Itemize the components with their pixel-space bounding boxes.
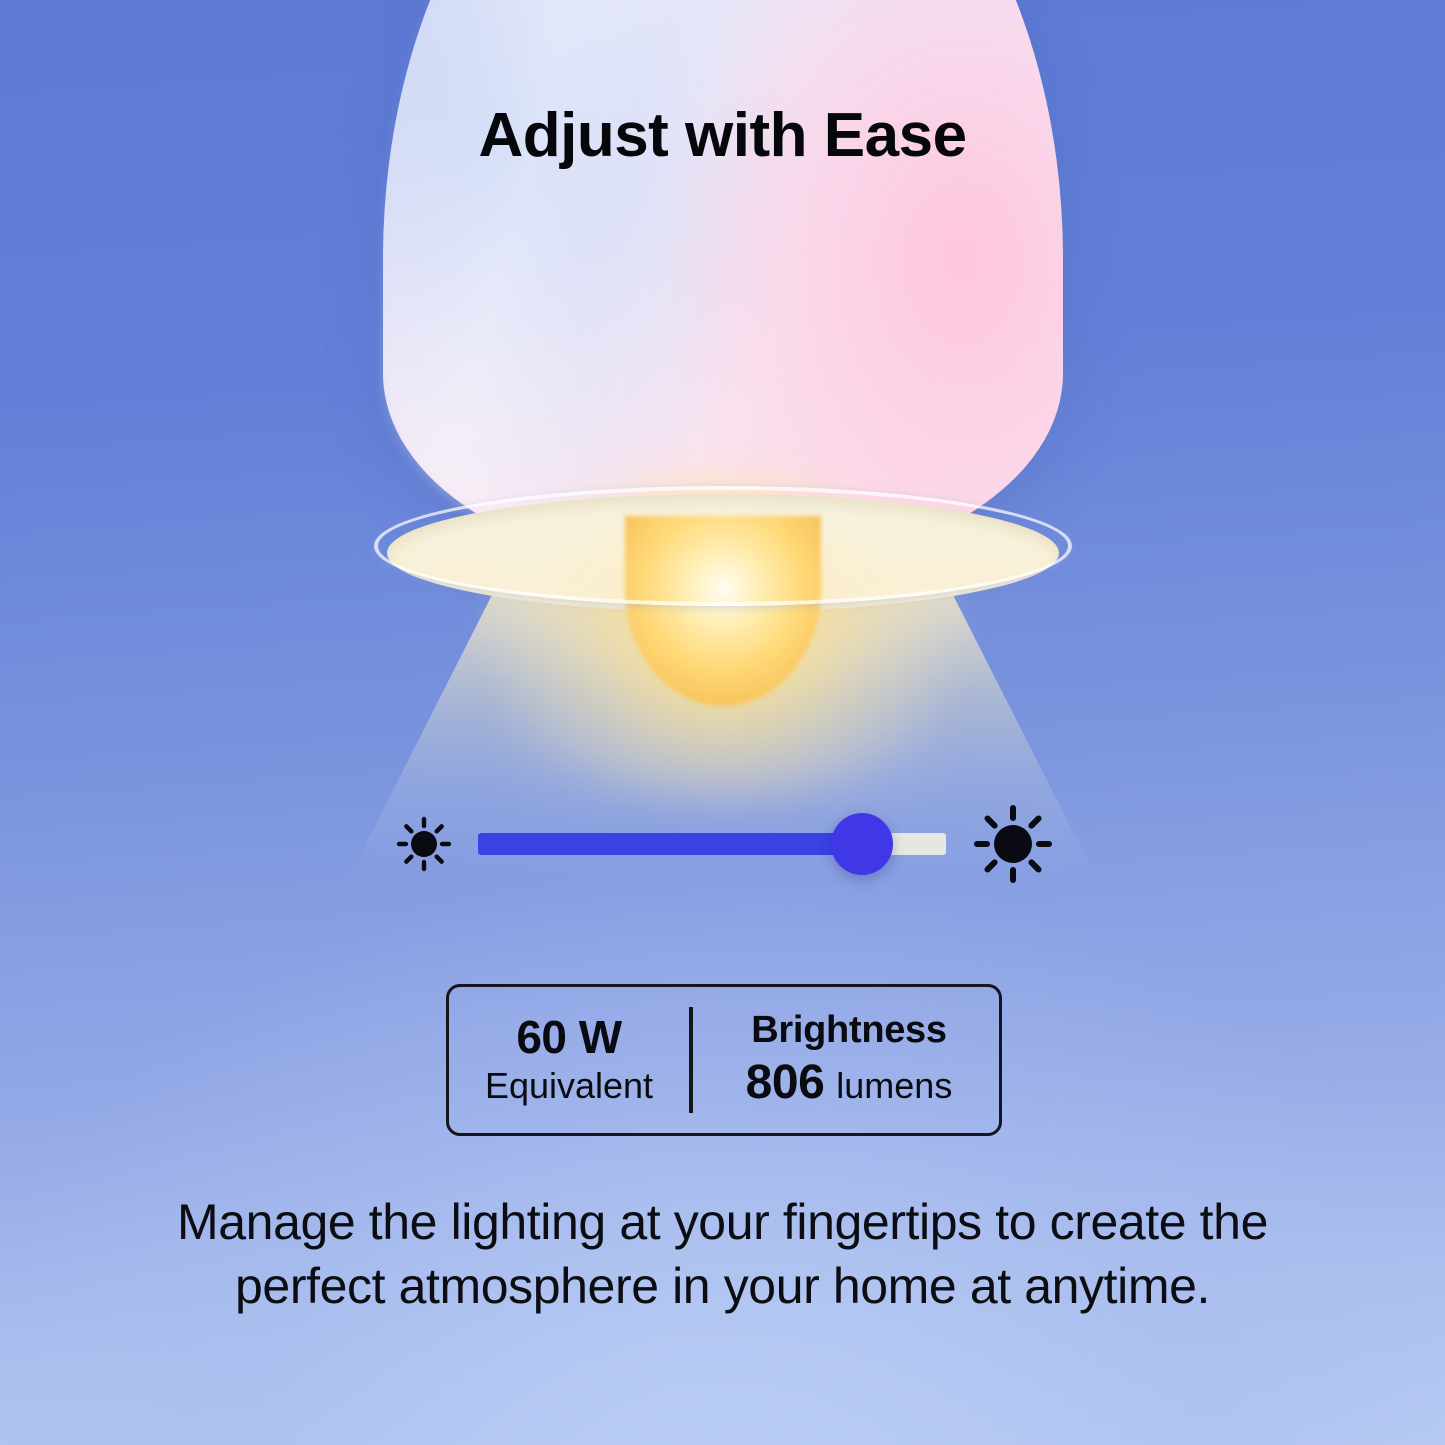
spec-box: 60 W Equivalent Brightness 806 lumens [446,984,1002,1136]
caption-text: Manage the lighting at your fingertips t… [110,1190,1335,1318]
light-bulb [625,516,821,706]
spec-wattage-value: 60 W [516,1013,621,1061]
lamp-shade-highlight [383,0,1063,570]
lamp-shade-opening [387,494,1059,612]
brightness-slider[interactable] [478,812,946,876]
spec-wattage: 60 W Equivalent [449,987,689,1133]
page-title: Adjust with Ease [0,100,1445,171]
spec-brightness-value-row: 806 lumens [746,1055,953,1110]
slider-thumb[interactable] [831,813,893,875]
spec-brightness-label: Brightness [751,1010,946,1052]
light-cone-hotspot [513,540,933,800]
lamp-shade-rim [374,486,1072,606]
bulb-glow [483,470,963,800]
slider-track-fill[interactable] [478,833,862,855]
spec-wattage-label: Equivalent [485,1065,653,1106]
brightness-low-sun-icon[interactable] [395,815,453,873]
brightness-slider-row[interactable] [395,802,1055,886]
spec-brightness-unit: lumens [836,1065,952,1107]
brightness-high-sun-icon[interactable] [971,802,1055,886]
product-feature-image: Adjust with Ease [0,0,1445,1445]
lamp-shade [383,0,1063,570]
spec-brightness: Brightness 806 lumens [693,987,999,1133]
spec-brightness-value: 806 [746,1055,825,1110]
